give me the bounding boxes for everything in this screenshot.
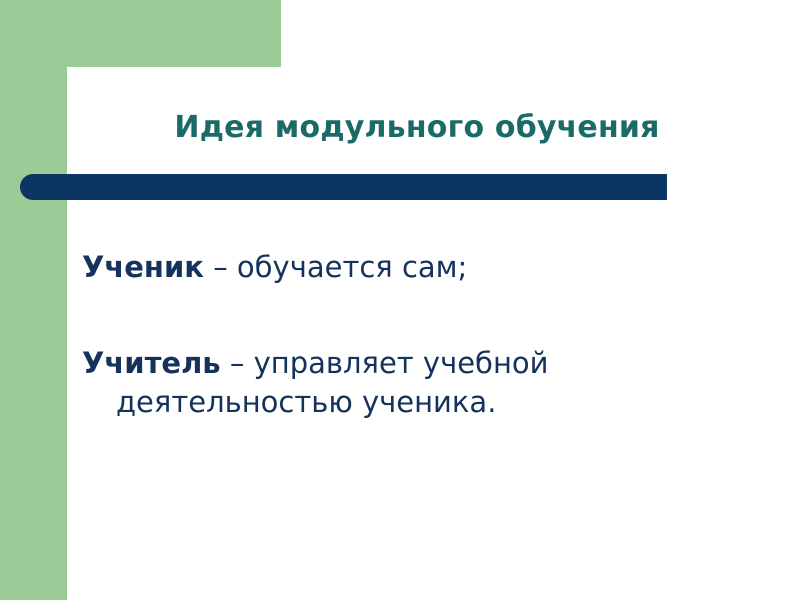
body-paragraph-student: Ученик – обучается сам; xyxy=(82,248,722,286)
body-paragraph-student-lead: Ученик xyxy=(82,250,204,284)
slide-canvas: Идея модульного обучения Ученик – обучае… xyxy=(0,0,800,600)
body-paragraph-teacher-lead: Учитель xyxy=(82,346,221,380)
body-paragraph-student-rest: – обучается сам; xyxy=(204,250,467,284)
green-top-band-decoration xyxy=(0,0,281,67)
body-paragraph-teacher: Учитель – управляет учебной деятельность… xyxy=(82,344,722,421)
slide-body: Ученик – обучается сам; Учитель – управл… xyxy=(82,248,722,421)
title-underline-bar xyxy=(20,174,667,200)
green-left-strip-decoration xyxy=(0,0,67,600)
slide-title: Идея модульного обучения xyxy=(67,110,767,146)
